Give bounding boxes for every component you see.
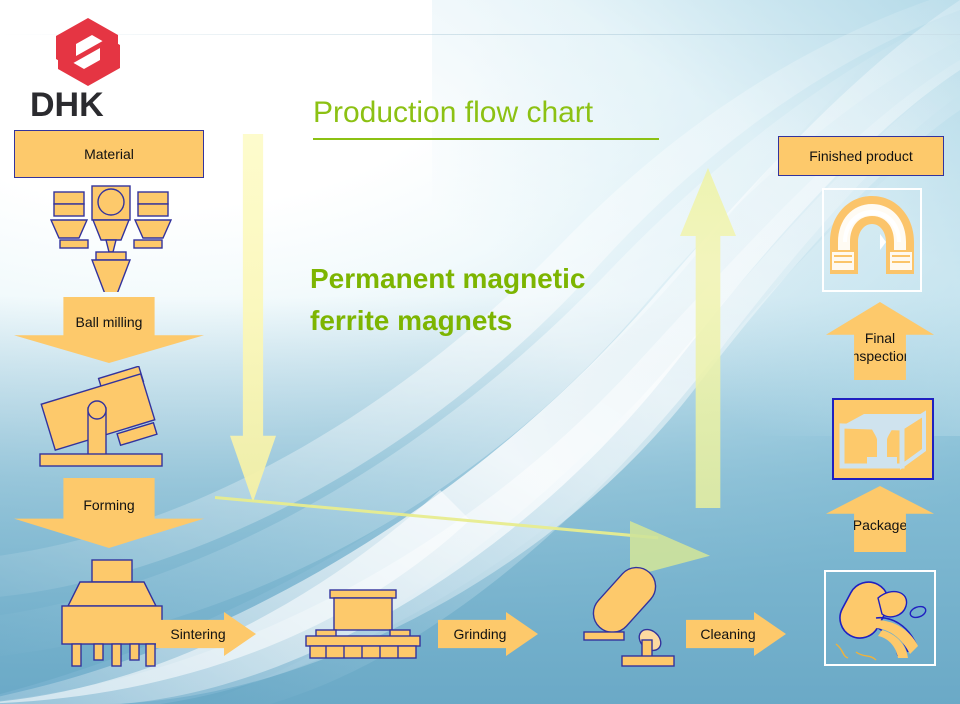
logo-wordmark: DHK xyxy=(30,88,146,122)
step-final-inspection-label-line-1: Final xyxy=(848,329,911,347)
step-material-label: Material xyxy=(84,145,134,163)
cleaning-tumbler-icon xyxy=(580,558,690,668)
subtitle: Permanent magnetic ferrite magnets xyxy=(310,258,710,342)
step-finished-product-label: Finished product xyxy=(809,147,913,165)
step-grinding-label: Grinding xyxy=(454,625,507,643)
step-ball-milling-label: Ball milling xyxy=(76,313,143,331)
step-sintering-label: Sintering xyxy=(170,625,225,643)
page-title: Production flow chart xyxy=(313,96,593,130)
ball-mill-icon xyxy=(30,366,180,476)
grinding-machine-icon xyxy=(300,588,430,660)
dhk-hexagon-s-mark-icon xyxy=(30,14,146,94)
step-forming-label: Forming xyxy=(83,496,134,514)
subtitle-line-1: Permanent magnetic xyxy=(310,258,710,300)
horseshoe-magnet-icon xyxy=(824,190,920,290)
washing-illustration-frame xyxy=(824,570,936,666)
step-final-inspection-label-line-2: inspection xyxy=(848,347,911,365)
page-title-underline xyxy=(313,138,659,140)
step-final-inspection-label: Final inspection xyxy=(848,329,911,365)
sintering-kiln-icon xyxy=(46,558,176,668)
step-cleaning-label: Cleaning xyxy=(700,625,755,643)
step-material[interactable]: Material xyxy=(14,130,204,178)
package-box-icon xyxy=(834,400,932,478)
washing-splash-icon xyxy=(826,572,934,664)
finished-product-illustration-frame xyxy=(822,188,922,292)
dhk-logo: DHK xyxy=(30,14,146,122)
production-flow-chart-slide: DHK Production flow chart Permanent magn… xyxy=(0,0,960,704)
step-package-label: Package xyxy=(853,516,907,534)
subtitle-line-2: ferrite magnets xyxy=(310,300,710,342)
batching-hoppers-icon xyxy=(48,182,174,292)
package-illustration-frame xyxy=(832,398,934,480)
step-finished-product[interactable]: Finished product xyxy=(778,136,944,176)
